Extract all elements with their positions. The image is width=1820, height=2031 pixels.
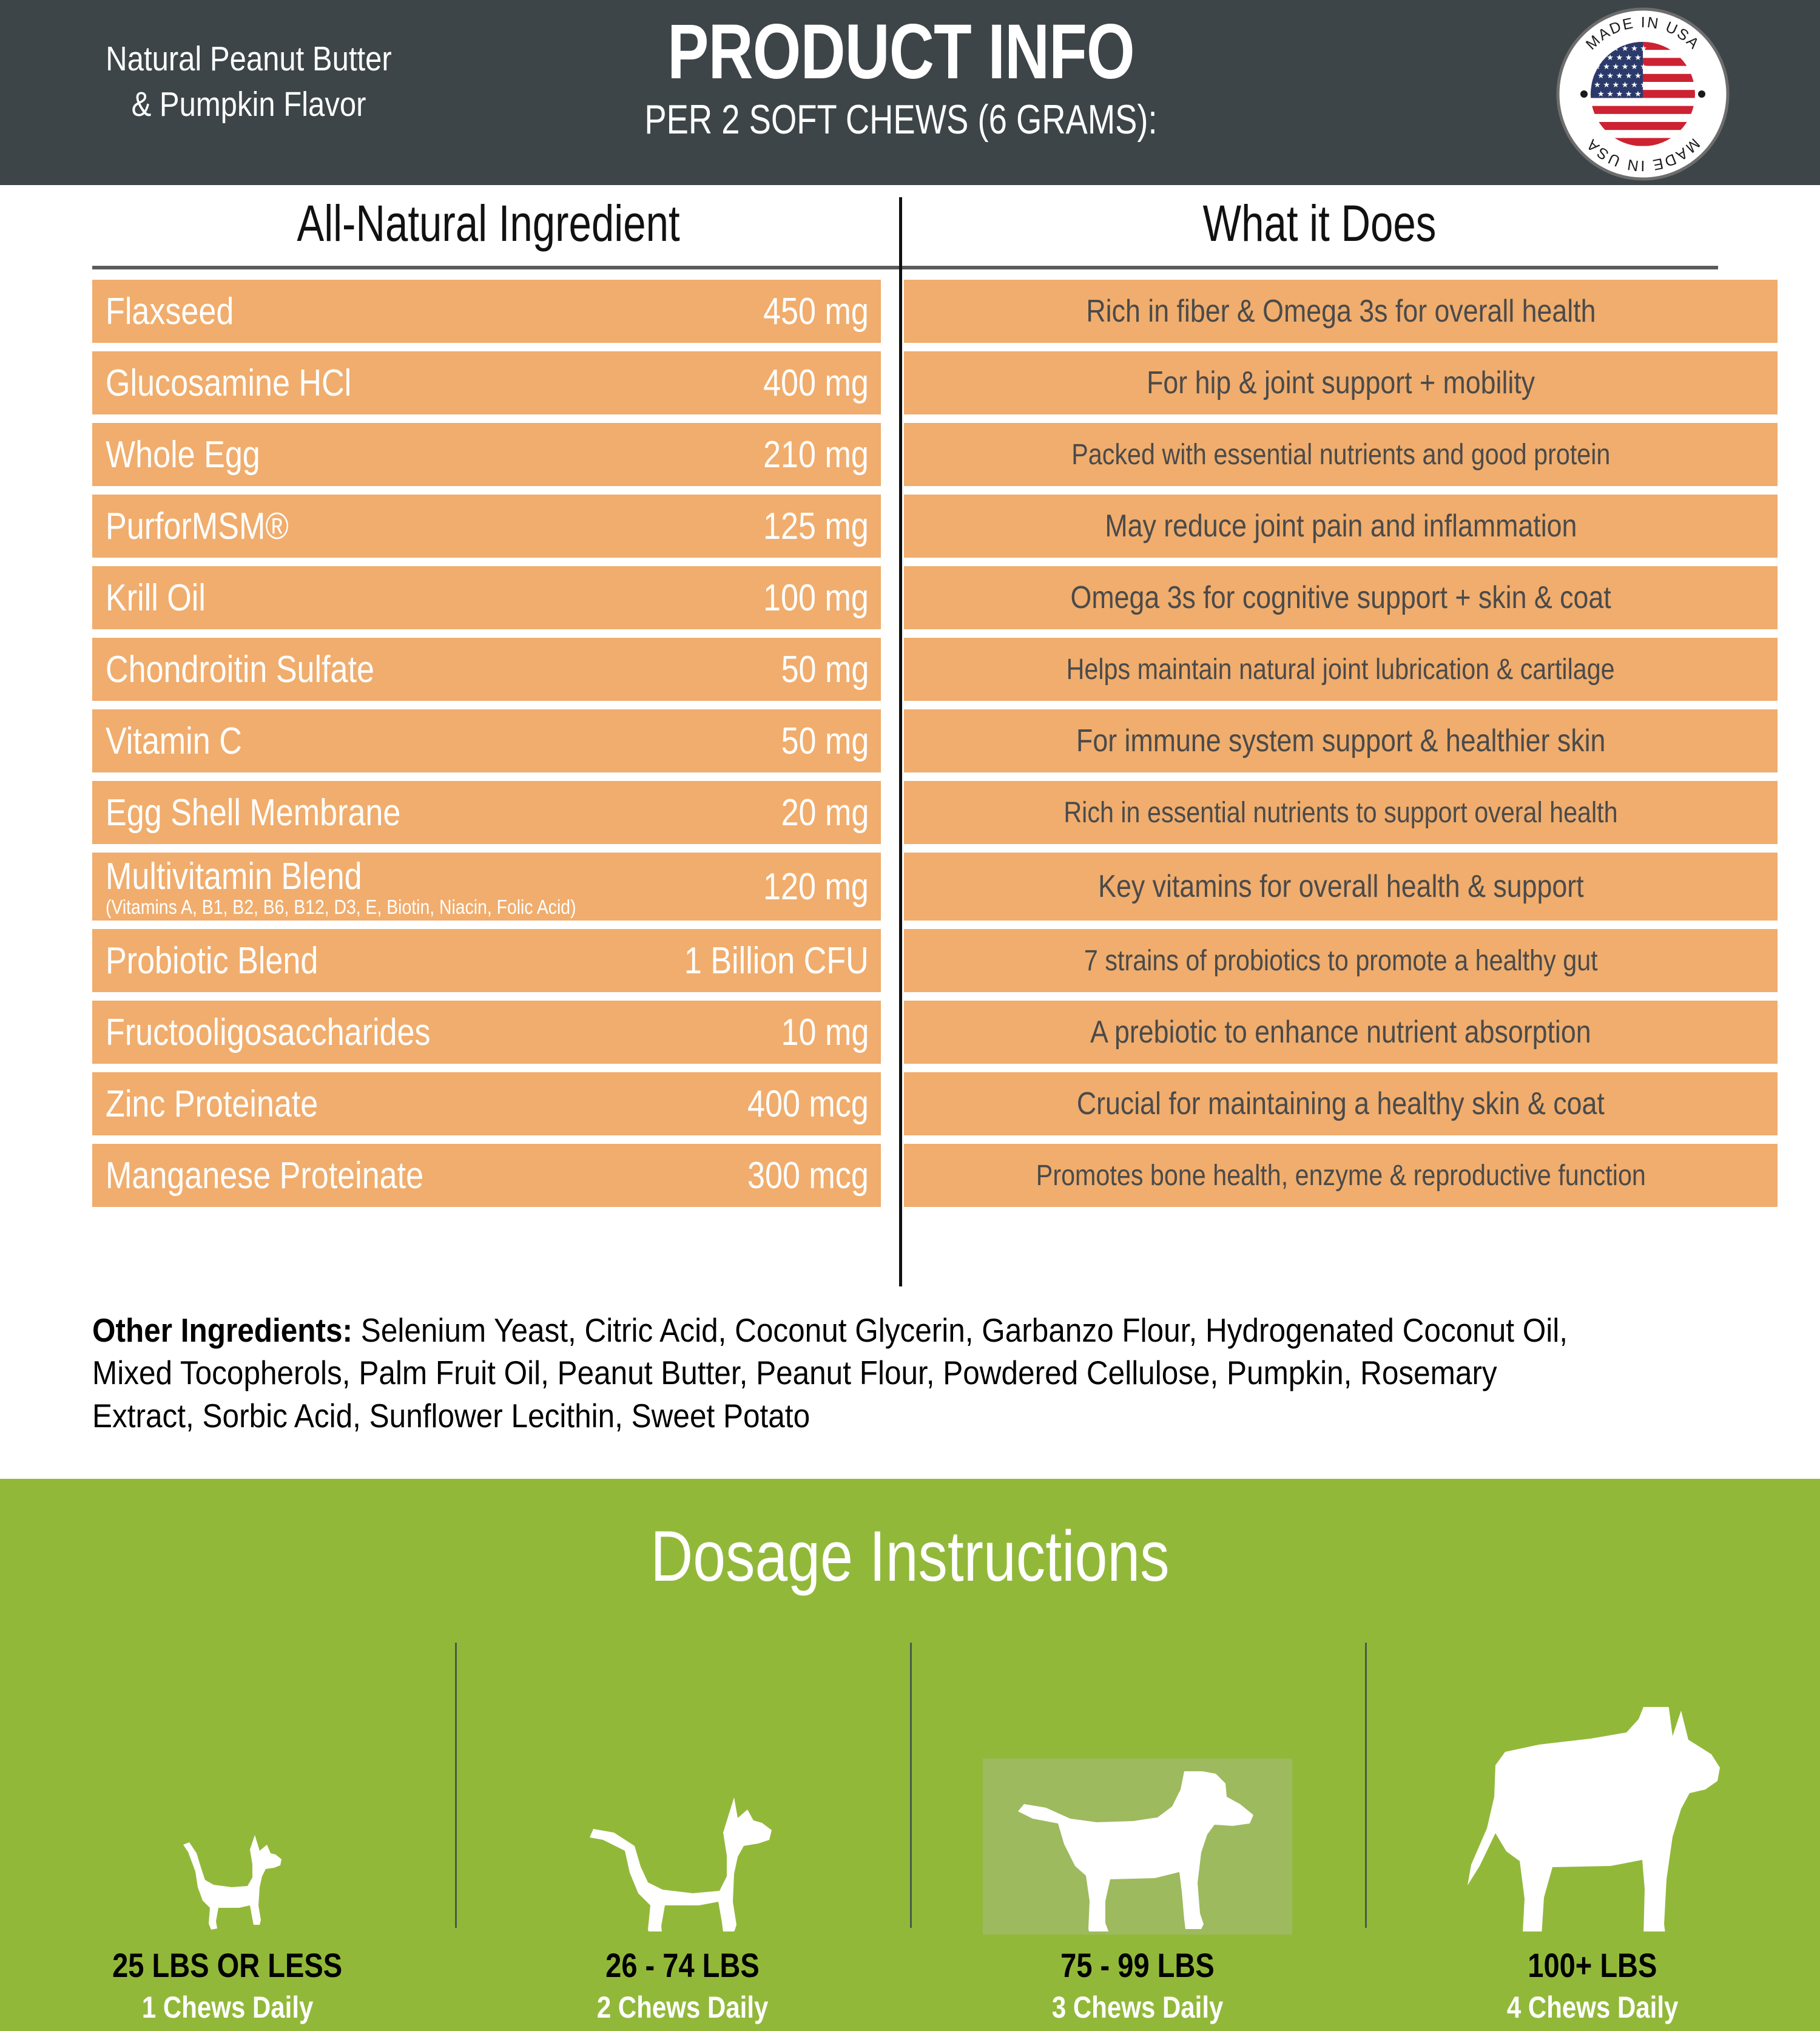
dosage-title: Dosage Instructions xyxy=(164,1515,1656,1598)
ingredient-name-group: Probiotic Blend xyxy=(106,939,359,982)
ingredient-name-group: Zinc Proteinate xyxy=(106,1083,359,1126)
ingredient-cell: Flaxseed450 mg xyxy=(92,280,881,343)
ingredient-name-group: PurforMSM® xyxy=(106,505,323,548)
what-it-does-text: A prebiotic to enhance nutrient absorpti… xyxy=(1090,1014,1591,1050)
what-it-does-text: Helps maintain natural joint lubrication… xyxy=(1067,653,1615,686)
what-it-does-cell: Crucial for maintaining a healthy skin &… xyxy=(904,1072,1778,1135)
what-it-does-text: Key vitamins for overall health & suppor… xyxy=(1098,868,1583,905)
what-it-does-text: For hip & joint support + mobility xyxy=(1147,365,1535,401)
other-ingredients-label: Other Ingredients: xyxy=(92,1311,352,1349)
ingredient-name: Flaxseed xyxy=(106,290,234,333)
what-it-does-cell: Packed with essential nutrients and good… xyxy=(904,423,1778,486)
ingredient-amount: 450 mg xyxy=(763,290,869,333)
table-row: Probiotic Blend1 Billion CFU7 strains of… xyxy=(0,929,1820,992)
made-in-usa-badge-icon: ★ ★ ★ ★ ★ ★ ★ ★ ★ ★ ★ ★ ★ ★ ★ ★ ★ ★ ★ ★ … xyxy=(1555,6,1731,182)
table-body: Flaxseed450 mgRich in fiber & Omega 3s f… xyxy=(0,270,1820,1207)
ingredient-detail-note: (Vitamins A, B1, B2, B6, B12, D3, E, Bio… xyxy=(106,896,576,919)
other-ingredients-block: Other Ingredients: Selenium Yeast, Citri… xyxy=(92,1309,1577,1437)
ingredient-amount: 10 mg xyxy=(781,1011,869,1054)
svg-text:★ ★ ★ ★ ★: ★ ★ ★ ★ ★ xyxy=(1597,89,1642,98)
table-row: Fructooligosaccharides10 mgA prebiotic t… xyxy=(0,1001,1820,1064)
dosage-chews-per-day: 1 Chews Daily xyxy=(142,1990,313,2025)
ingredient-name: Krill Oil xyxy=(106,576,206,620)
what-it-does-cell: 7 strains of probiotics to promote a hea… xyxy=(904,929,1778,992)
dosage-column-4: 100+ LBS4 Chews Daily xyxy=(1365,1637,1820,2025)
dog-illustration-area xyxy=(1365,1692,1820,1935)
ingredient-cell: Glucosamine HCl400 mg xyxy=(92,351,881,414)
ingredient-name: Fructooligosaccharides xyxy=(106,1011,431,1054)
ingredient-cell: Manganese Proteinate300 mcg xyxy=(92,1144,881,1207)
ingredient-name: PurforMSM® xyxy=(106,505,289,548)
dosage-column-2: 26 - 74 LBS2 Chews Daily xyxy=(455,1637,910,2025)
giant-dog-icon xyxy=(1447,1707,1738,1935)
serving-size-subtitle: PER 2 SOFT CHEWS (6 GRAMS): xyxy=(598,98,1204,141)
table-row: Multivitamin Blend(Vitamins A, B1, B2, B… xyxy=(0,853,1820,921)
dosage-weight-range: 26 - 74 LBS xyxy=(605,1945,760,1985)
dosage-columns: 25 LBS OR LESS1 Chews Daily26 - 74 LBS2 … xyxy=(0,1637,1820,2025)
ingredient-name-group: Glucosamine HCl xyxy=(106,362,398,405)
table-row: Egg Shell Membrane20 mgRich in essential… xyxy=(0,781,1820,844)
dog-illustration-area xyxy=(455,1692,910,1935)
svg-text:★ ★ ★ ★ ★ ★: ★ ★ ★ ★ ★ ★ xyxy=(1594,80,1647,89)
ingredient-name: Glucosamine HCl xyxy=(106,362,351,405)
ingredient-amount: 1 Billion CFU xyxy=(684,939,869,982)
dog-illustration-area xyxy=(0,1692,455,1935)
ingredient-name-group: Manganese Proteinate xyxy=(106,1154,484,1197)
ingredient-name: Manganese Proteinate xyxy=(106,1154,423,1197)
flavor-line-2: & Pumpkin Flavor xyxy=(66,82,431,127)
ingredient-cell: Egg Shell Membrane20 mg xyxy=(92,781,881,844)
table-row: Vitamin C50 mgFor immune system support … xyxy=(0,709,1820,772)
table-row: Chondroitin Sulfate50 mgHelps maintain n… xyxy=(0,638,1820,701)
ingredient-amount: 400 mcg xyxy=(747,1083,869,1126)
table-row: Flaxseed450 mgRich in fiber & Omega 3s f… xyxy=(0,280,1820,343)
ingredient-name-group: Egg Shell Membrane xyxy=(106,791,457,834)
dosage-weight-range: 25 LBS OR LESS xyxy=(112,1945,342,1985)
svg-text:★ ★ ★ ★ ★ ★: ★ ★ ★ ★ ★ ★ xyxy=(1594,62,1647,71)
ingredient-name-group: Multivitamin Blend(Vitamins A, B1, B2, B… xyxy=(106,855,653,919)
ingredient-cell: Krill Oil100 mg xyxy=(92,566,881,629)
flavor-line-1: Natural Peanut Butter xyxy=(66,36,431,82)
header-title-group: PRODUCT INFO PER 2 SOFT CHEWS (6 GRAMS): xyxy=(522,13,1280,141)
ingredient-name: Vitamin C xyxy=(106,720,242,763)
dosage-column-3: 75 - 99 LBS3 Chews Daily xyxy=(910,1637,1365,2025)
table-column-headers: All-Natural Ingredient What it Does xyxy=(0,185,1820,270)
dosage-chews-per-day: 2 Chews Daily xyxy=(597,1990,768,2025)
what-it-does-text: Packed with essential nutrients and good… xyxy=(1071,438,1610,471)
ingredient-cell: Probiotic Blend1 Billion CFU xyxy=(92,929,881,992)
dosage-column-1: 25 LBS OR LESS1 Chews Daily xyxy=(0,1637,455,2025)
ingredient-amount: 300 mcg xyxy=(747,1154,869,1197)
small-dog-icon xyxy=(164,1831,291,1935)
dosage-weight-range: 75 - 99 LBS xyxy=(1060,1945,1215,1985)
what-it-does-cell: A prebiotic to enhance nutrient absorpti… xyxy=(904,1001,1778,1064)
ingredient-amount: 400 mg xyxy=(763,362,869,405)
ingredient-table: All-Natural Ingredient What it Does Flax… xyxy=(0,185,1820,1215)
large-dog-icon xyxy=(1007,1768,1268,1935)
table-row: Krill Oil100 mgOmega 3s for cognitive su… xyxy=(0,566,1820,629)
column-header-ingredient: All-Natural Ingredient xyxy=(173,194,804,253)
what-it-does-cell: For immune system support & healthier sk… xyxy=(904,709,1778,772)
what-it-does-cell: Omega 3s for cognitive support + skin & … xyxy=(904,566,1778,629)
ingredient-cell: Fructooligosaccharides10 mg xyxy=(92,1001,881,1064)
table-row: Manganese Proteinate300 mcgPromotes bone… xyxy=(0,1144,1820,1207)
dosage-chews-per-day: 4 Chews Daily xyxy=(1507,1990,1678,2025)
table-row: Glucosamine HCl400 mgFor hip & joint sup… xyxy=(0,351,1820,414)
what-it-does-text: Omega 3s for cognitive support + skin & … xyxy=(1070,580,1611,616)
table-row: PurforMSM®125 mgMay reduce joint pain an… xyxy=(0,495,1820,558)
ingredient-amount: 125 mg xyxy=(763,505,869,548)
ingredient-cell: Vitamin C50 mg xyxy=(92,709,881,772)
ingredient-name: Whole Egg xyxy=(106,433,260,476)
ingredient-name: Zinc Proteinate xyxy=(106,1083,318,1126)
page-title: PRODUCT INFO xyxy=(598,13,1204,91)
ingredient-cell: Whole Egg210 mg xyxy=(92,423,881,486)
ingredient-amount: 120 mg xyxy=(763,865,869,908)
product-info-label: Natural Peanut Butter & Pumpkin Flavor P… xyxy=(0,0,1820,2031)
what-it-does-text: Rich in fiber & Omega 3s for overall hea… xyxy=(1086,293,1596,329)
column-header-what-it-does: What it Does xyxy=(992,194,1647,253)
table-row: Whole Egg210 mgPacked with essential nut… xyxy=(0,423,1820,486)
what-it-does-cell: Rich in fiber & Omega 3s for overall hea… xyxy=(904,280,1778,343)
svg-text:★ ★ ★ ★ ★: ★ ★ ★ ★ ★ xyxy=(1597,71,1642,80)
dosage-chews-per-day: 3 Chews Daily xyxy=(1052,1990,1223,2025)
ingredient-amount: 50 mg xyxy=(781,720,869,763)
ingredient-cell: PurforMSM®125 mg xyxy=(92,495,881,558)
header-rule-divider xyxy=(92,266,1718,269)
ingredient-name-group: Vitamin C xyxy=(106,720,268,763)
ingredient-amount: 100 mg xyxy=(763,576,869,620)
header-bar: Natural Peanut Butter & Pumpkin Flavor P… xyxy=(0,0,1820,185)
dosage-instructions-section: Dosage Instructions 25 LBS OR LESS1 Chew… xyxy=(0,1479,1820,2031)
medium-dog-icon xyxy=(582,1795,783,1935)
what-it-does-text: Promotes bone health, enzyme & reproduct… xyxy=(1036,1159,1645,1192)
ingredient-name: Multivitamin Blend xyxy=(106,855,565,898)
ingredient-name-group: Fructooligosaccharides xyxy=(106,1011,493,1054)
ingredient-name: Probiotic Blend xyxy=(106,939,318,982)
table-row: Zinc Proteinate400 mcgCrucial for mainta… xyxy=(0,1072,1820,1135)
what-it-does-cell: Key vitamins for overall health & suppor… xyxy=(904,853,1778,921)
ingredient-cell: Zinc Proteinate400 mcg xyxy=(92,1072,881,1135)
what-it-does-cell: May reduce joint pain and inflammation xyxy=(904,495,1778,558)
dog-illustration-area xyxy=(910,1692,1365,1935)
ingredient-name: Egg Shell Membrane xyxy=(106,791,400,834)
flavor-text: Natural Peanut Butter & Pumpkin Flavor xyxy=(66,36,431,127)
ingredient-name: Chondroitin Sulfate xyxy=(106,648,374,691)
what-it-does-text: For immune system support & healthier sk… xyxy=(1076,723,1605,759)
dosage-weight-range: 100+ LBS xyxy=(1528,1945,1657,1985)
ingredient-name-group: Chondroitin Sulfate xyxy=(106,648,425,691)
what-it-does-text: May reduce joint pain and inflammation xyxy=(1105,508,1577,544)
ingredient-amount: 210 mg xyxy=(763,433,869,476)
ingredient-name-group: Whole Egg xyxy=(106,433,289,476)
what-it-does-cell: Rich in essential nutrients to support o… xyxy=(904,781,1778,844)
what-it-does-text: 7 strains of probiotics to promote a hea… xyxy=(1084,944,1598,978)
what-it-does-text: Rich in essential nutrients to support o… xyxy=(1063,796,1617,830)
what-it-does-cell: Helps maintain natural joint lubrication… xyxy=(904,638,1778,701)
ingredient-amount: 20 mg xyxy=(781,791,869,834)
what-it-does-cell: Promotes bone health, enzyme & reproduct… xyxy=(904,1144,1778,1207)
what-it-does-text: Crucial for maintaining a healthy skin &… xyxy=(1077,1086,1605,1122)
ingredient-name-group: Flaxseed xyxy=(106,290,258,333)
ingredient-cell: Chondroitin Sulfate50 mg xyxy=(92,638,881,701)
ingredient-cell: Multivitamin Blend(Vitamins A, B1, B2, B… xyxy=(92,853,881,921)
ingredient-amount: 50 mg xyxy=(781,648,869,691)
what-it-does-cell: For hip & joint support + mobility xyxy=(904,351,1778,414)
ingredient-name-group: Krill Oil xyxy=(106,576,224,620)
